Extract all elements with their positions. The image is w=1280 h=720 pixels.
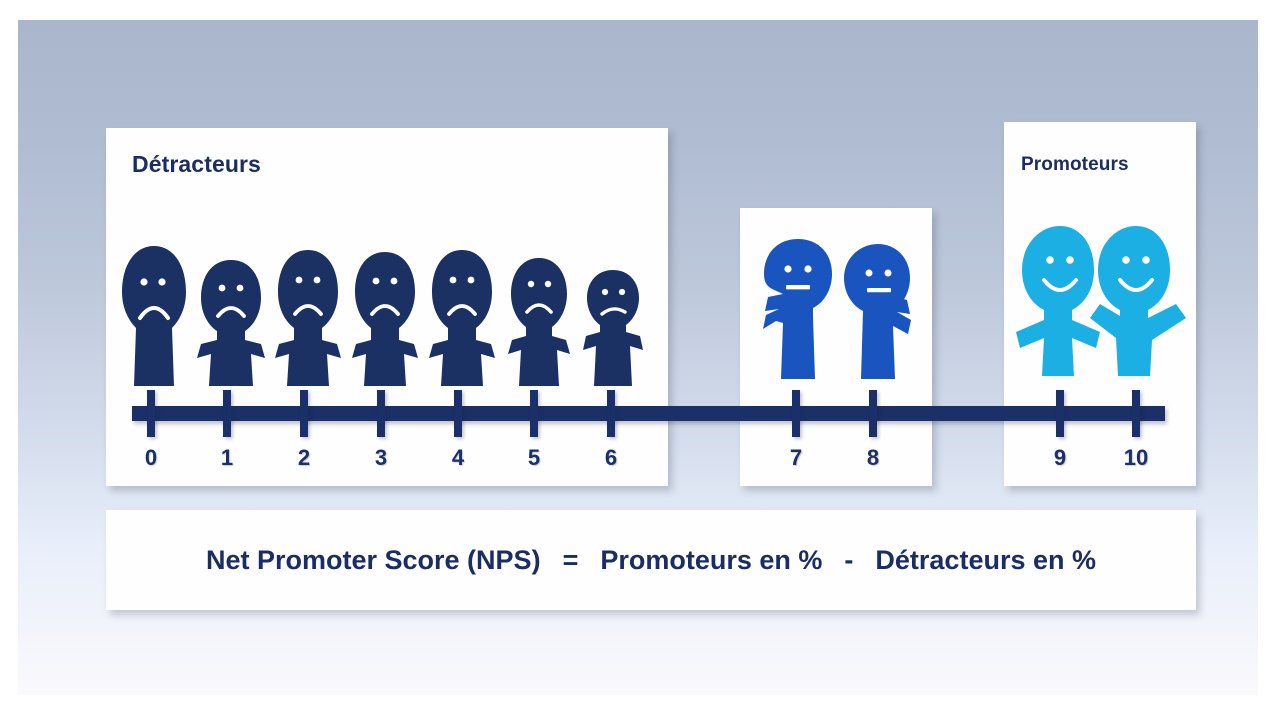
detractor-figure-3 (350, 250, 420, 386)
axis-label-7: 7 (776, 445, 816, 471)
axis-label-1: 1 (207, 445, 247, 471)
screenshot-root: Détracteurs Promoteurs (0, 0, 1280, 720)
detractors-title: Détracteurs (132, 151, 261, 178)
score-axis-bar (132, 406, 1165, 421)
formula-equals: = (563, 545, 579, 576)
detractor-figure-2 (273, 248, 343, 386)
axis-label-4: 4 (438, 445, 478, 471)
nps-formula: Net Promoter Score (NPS) = Promoteurs en… (106, 510, 1196, 610)
axis-label-0: 0 (131, 445, 171, 471)
axis-label-5: 5 (514, 445, 554, 471)
axis-label-2: 2 (284, 445, 324, 471)
detractor-figure-5 (506, 256, 572, 386)
formula-negative-term: Détracteurs en % (875, 545, 1096, 576)
axis-tick-2 (300, 390, 308, 437)
axis-tick-7 (792, 390, 800, 437)
detractor-figure-0 (116, 244, 192, 386)
passive-figure-8 (840, 242, 916, 379)
detractor-figure-1 (195, 258, 267, 386)
promoters-title: Promoteurs (1021, 154, 1129, 176)
formula-term-label: Net Promoter Score (NPS) (206, 545, 541, 576)
detractor-figure-6 (581, 268, 645, 386)
passive-figure-7 (760, 237, 836, 379)
axis-tick-4 (454, 390, 462, 437)
formula-panel: Net Promoter Score (NPS) = Promoteurs en… (106, 510, 1196, 610)
axis-tick-9 (1056, 390, 1064, 437)
axis-tick-3 (377, 390, 385, 437)
axis-tick-0 (147, 390, 155, 437)
axis-tick-8 (869, 390, 877, 437)
axis-tick-1 (223, 390, 231, 437)
axis-label-8: 8 (853, 445, 893, 471)
detractor-figure-4 (427, 248, 497, 386)
slide-canvas: Détracteurs Promoteurs (18, 20, 1258, 695)
axis-tick-10 (1132, 390, 1140, 437)
axis-label-9: 9 (1040, 445, 1080, 471)
formula-minus: - (844, 545, 853, 576)
axis-label-3: 3 (361, 445, 401, 471)
axis-tick-5 (530, 390, 538, 437)
axis-label-10: 10 (1116, 445, 1156, 471)
axis-label-6: 6 (591, 445, 631, 471)
formula-positive-term: Promoteurs en % (600, 545, 822, 576)
axis-tick-6 (607, 390, 615, 437)
promoter-figure-10 (1086, 224, 1188, 376)
